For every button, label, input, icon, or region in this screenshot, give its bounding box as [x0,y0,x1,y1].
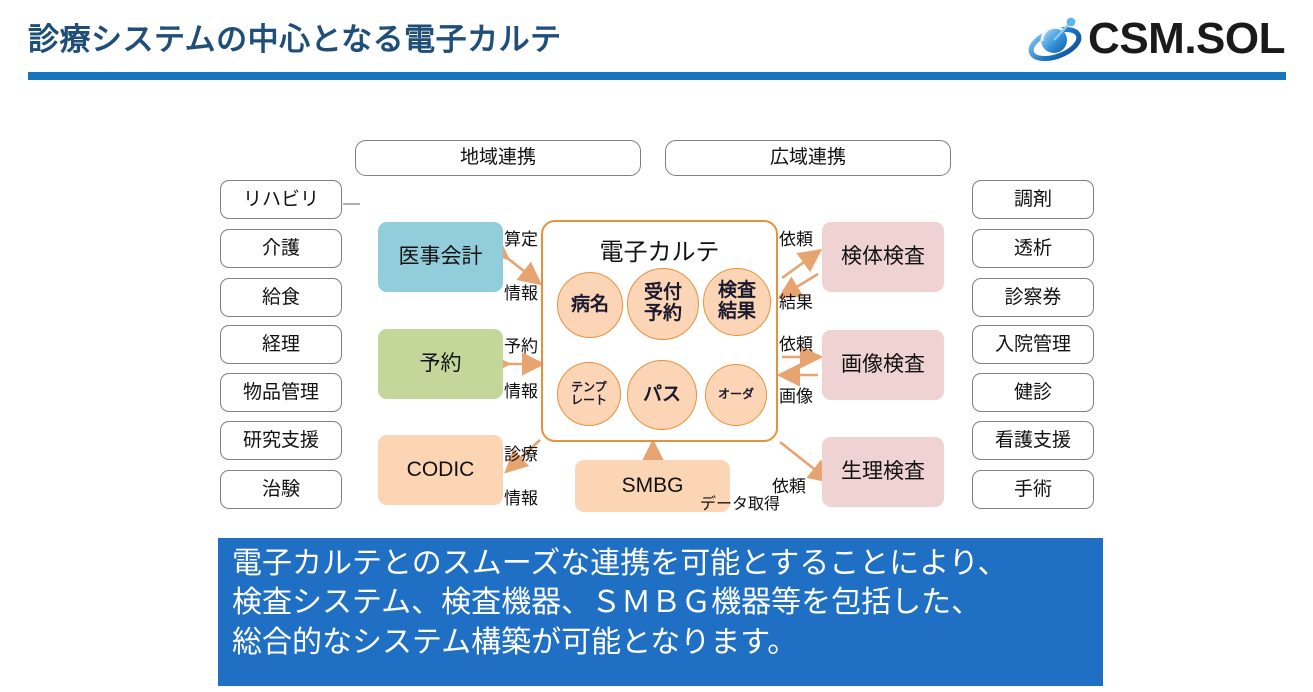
system-box-label: 検体検査 [841,245,925,269]
link-box-wide-area-cooperation[interactable]: 広域連携 [665,140,951,176]
circle-label: パス [643,385,681,406]
circle-disease-name[interactable]: 病名 [557,272,623,338]
slide-header: 診療システムの中心となる電子カルテ [0,0,1313,88]
sidebar-item-label: 透析 [1014,238,1052,260]
sidebar-item-research-support[interactable]: 研究支援 [220,421,342,460]
center-box-electronic-medical-record[interactable]: 電子カルテ 病名 受付 予約 検査 結果 テンプ レート パス オーダ [541,220,778,442]
sidebar-item-nursing-support[interactable]: 看護支援 [972,421,1094,460]
flow-label-request-specimen: 依頼 [779,225,813,250]
csm-sol-swoosh-icon [1024,11,1086,67]
sidebar-item-label: 治験 [262,479,300,501]
system-box-label: SMBG [622,474,684,498]
sidebar-item-food-service[interactable]: 給食 [220,278,342,317]
sidebar-item-label: 介護 [262,238,300,260]
sidebar-item-accounting[interactable]: 経理 [220,325,342,364]
system-box-specimen-test[interactable]: 検体検査 [822,222,944,292]
system-box-label: CODIC [407,458,475,482]
sidebar-item-label: 手術 [1014,479,1052,501]
circle-order[interactable]: オーダ [705,364,767,426]
link-box-regional-cooperation[interactable]: 地域連携 [355,140,641,176]
flow-label-data-acquisition: データ取得 [700,490,780,514]
sidebar-item-supplies-management[interactable]: 物品管理 [220,373,342,412]
system-box-label: 予約 [420,352,462,376]
system-box-reservation[interactable]: 予約 [378,329,503,399]
flow-label-info-left-mid: 情報 [504,377,538,402]
summary-line-2: 検査システム、検査機器、ＳＭＢＧ機器等を包括した、 [232,583,1098,622]
sidebar-item-inpatient-management[interactable]: 入院管理 [972,325,1094,364]
sidebar-item-label: 物品管理 [243,382,319,404]
sidebar-item-label: 研究支援 [243,430,319,452]
flow-label-image: 画像 [779,382,813,407]
sidebar-item-rehabilitation[interactable]: リハビリ [220,180,342,219]
sidebar-item-surgery[interactable]: 手術 [972,470,1094,509]
flow-label-result: 結果 [779,288,813,313]
circle-path[interactable]: パス [627,360,697,430]
system-box-label: 生理検査 [841,460,925,484]
circle-reception-reservation[interactable]: 受付 予約 [627,268,699,340]
flow-label-calculation: 算定 [504,225,538,250]
circle-test-result[interactable]: 検査 結果 [703,268,771,336]
circle-label: 検査 結果 [718,281,756,323]
sidebar-item-label: 調剤 [1014,189,1052,211]
sidebar-item-label: 経理 [262,334,300,356]
sidebar-item-nursing-care[interactable]: 介護 [220,229,342,268]
circle-label: オーダ [718,388,754,401]
sidebar-item-dispensing[interactable]: 調剤 [972,180,1094,219]
sidebar-item-label: 診察券 [1004,287,1061,309]
sidebar-item-label: リハビリ [243,189,319,211]
circle-label: テンプ レート [571,381,607,407]
title-divider-rule [28,72,1286,80]
link-box-label: 地域連携 [460,147,536,169]
summary-banner: 電子カルテとのスムーズな連携を可能とすることにより、 検査システム、検査機器、Ｓ… [218,538,1103,686]
system-box-label: 医事会計 [399,245,483,269]
circle-label: 病名 [571,295,609,316]
system-box-physiological-test[interactable]: 生理検査 [822,437,944,507]
sidebar-item-patient-card[interactable]: 診察券 [972,278,1094,317]
summary-banner-text: 電子カルテとのスムーズな連携を可能とすることにより、 検査システム、検査機器、Ｓ… [232,544,1098,662]
link-box-label: 広域連携 [770,147,846,169]
sidebar-item-label: 看護支援 [995,430,1071,452]
flow-label-request-imaging: 依頼 [779,330,813,355]
brand-logo: CSM.SOL [1024,10,1285,68]
page-title: 診療システムの中心となる電子カルテ [28,14,562,59]
system-architecture-diagram: 地域連携 広域連携 リハビリ 介護 給食 経理 物品管理 研究支援 治験 調剤 … [0,92,1313,532]
logo-wordmark: CSM.SOL [1088,17,1285,61]
circle-label: 受付 予約 [644,283,682,325]
center-box-title: 電子カルテ [543,232,776,267]
sidebar-item-dialysis[interactable]: 透析 [972,229,1094,268]
sidebar-item-health-checkup[interactable]: 健診 [972,373,1094,412]
summary-line-1: 電子カルテとのスムーズな連携を可能とすることにより、 [232,544,1098,583]
sidebar-item-label: 給食 [262,287,300,309]
sidebar-item-label: 入院管理 [995,334,1071,356]
flow-label-info-left-top: 情報 [504,279,538,304]
flow-label-info-left-bottom: 情報 [504,484,538,509]
system-box-imaging-test[interactable]: 画像検査 [822,330,944,400]
summary-line-3: 総合的なシステム構築が可能となります。 [232,623,1098,662]
sidebar-item-label: 健診 [1014,382,1052,404]
sidebar-item-clinical-trial[interactable]: 治験 [220,470,342,509]
flow-label-medical-care: 診療 [504,440,538,465]
flow-label-reservation: 予約 [504,332,538,357]
circle-template[interactable]: テンプ レート [557,362,621,426]
system-box-medical-accounting[interactable]: 医事会計 [378,222,503,292]
system-box-codic[interactable]: CODIC [378,435,503,505]
system-box-label: 画像検査 [841,353,925,377]
